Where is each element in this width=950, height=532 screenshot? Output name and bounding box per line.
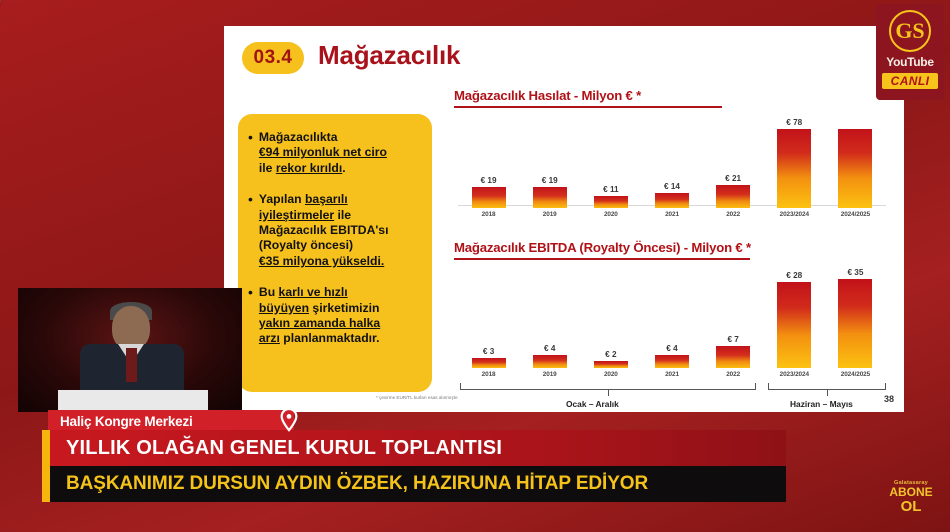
bar-category-label: 2019	[543, 371, 557, 378]
bullet-line: arzı planlanmaktadır.	[259, 331, 380, 345]
bar-category-label: 2021	[665, 211, 679, 218]
bar-category-label: 2021	[665, 371, 679, 378]
bar-value-label: € 4	[666, 344, 677, 353]
bar-category-label: 2023/2024	[780, 371, 809, 378]
bar-value-label: € 11	[603, 185, 618, 194]
title-underline	[454, 106, 722, 108]
chart-title: Mağazacılık EBITDA (Royalty Öncesi) - Mi…	[454, 240, 890, 255]
chart-hasilat: Mağazacılık Hasılat - Milyon € * € 19 20…	[454, 88, 890, 236]
group-bracket-tick	[827, 390, 828, 396]
bar-column: € 4 2019	[519, 268, 580, 378]
bar-column: € 19 2018	[458, 118, 519, 218]
bar-category-label: 2024/2025	[841, 371, 870, 378]
bar	[472, 187, 506, 208]
live-label: CANLI	[882, 73, 939, 89]
bar-category-label: 2019	[543, 211, 557, 218]
bar-value-label: € 19	[542, 176, 558, 185]
bar-category-label: 2022	[726, 371, 740, 378]
bar-value-label: € 19	[481, 176, 497, 185]
group-label-ocak-aralik: Ocak – Aralık	[566, 399, 619, 409]
bullet-dot: •	[248, 285, 253, 347]
youtube-live-badge: GS YouTube CANLI	[876, 4, 944, 100]
subscribe-line2: OL	[901, 499, 922, 515]
chart-plot-area: € 19 2018 € 19 2019 € 11 2020 € 14	[454, 118, 890, 218]
bar-value-label: € 35	[847, 268, 863, 277]
bar	[533, 187, 567, 208]
bullet-line: Bu karlı ve hızlı	[259, 285, 348, 299]
bar-category-label: 2018	[482, 371, 496, 378]
title-underline	[454, 258, 750, 260]
bar	[777, 282, 811, 368]
bullet-line: Mağazacılıkta	[259, 130, 338, 144]
slide-footnote: * çevirme EUR/TL kurları esas alınmıştır…	[376, 395, 459, 400]
bar-category-label: 2020	[604, 211, 618, 218]
subscribe-line1: ABONE	[889, 486, 932, 499]
bullet-text: Yapılan başarılı iyileştirmeler ile Mağa…	[259, 192, 389, 269]
bullet-text: Mağazacılıkta €94 milyonluk net ciro ile…	[259, 130, 387, 176]
bar-column: € 19 2019	[519, 118, 580, 218]
bullet-line: ile ile rekor kırıldı.rekor kırıldı.	[259, 161, 346, 175]
bar-column: € 78 2023/2024	[764, 118, 825, 218]
bar-category-label: 2023/2024	[780, 211, 809, 218]
bullet-line: yakın zamanda halka	[259, 316, 380, 330]
headline-bar: YILLIK OLAĞAN GENEL KURUL TOPLANTISI	[48, 430, 786, 466]
bar-value-label: € 4	[544, 344, 555, 353]
venue-name: Haliç Kongre Merkezi	[60, 414, 193, 429]
bullet-item: • Mağazacılıkta €94 milyonluk net ciro i…	[248, 130, 420, 176]
bullet-dot: •	[248, 130, 253, 176]
bullet-item: • Bu karlı ve hızlı büyüyen şirketimizin…	[248, 285, 420, 347]
presentation-slide: 03.4 Mağazacılık • Mağazacılıkta €94 mil…	[224, 26, 904, 412]
bullet-line: Yapılan başarılı	[259, 192, 348, 206]
headline-text: YILLIK OLAĞAN GENEL KURUL TOPLANTISI	[66, 437, 502, 460]
bar-column: € 7 2022	[703, 268, 764, 378]
podium	[58, 390, 208, 412]
bullet-line: Mağazacılık EBITDA'sı	[259, 223, 389, 237]
speaker-video-inset	[18, 288, 242, 412]
bar	[655, 193, 689, 209]
bar	[838, 129, 872, 208]
subscribe-badge[interactable]: Galatasaray ABONE OL	[878, 468, 944, 526]
bullet-line: büyüyen şirketimizin	[259, 301, 380, 315]
bar-column: € 2 2020	[580, 268, 641, 378]
bar	[594, 196, 628, 208]
bullet-item: • Yapılan başarılı iyileştirmeler ile Ma…	[248, 192, 420, 269]
bar-column: € 35 2024/2025	[825, 268, 886, 378]
subline-text: BAŞKANIMIZ DURSUN AYDIN ÖZBEK, HAZIRUNA …	[66, 473, 648, 495]
subline-bar: BAŞKANIMIZ DURSUN AYDIN ÖZBEK, HAZIRUNA …	[48, 466, 786, 502]
bar	[533, 355, 567, 368]
bar-column: € 28 2023/2024	[764, 268, 825, 378]
slide-section-number: 03.4	[242, 42, 304, 74]
group-bracket-haziran-mayis	[768, 383, 886, 390]
bar	[838, 279, 872, 368]
bar-value-label: € 2	[605, 350, 616, 359]
bullet-line: €35 milyona yükseldi.	[259, 254, 384, 268]
bar-category-label: 2022	[726, 211, 740, 218]
galatasaray-logo-icon: GS	[889, 10, 931, 52]
bar-value-label: € 28	[786, 271, 802, 280]
youtube-label: YouTube	[886, 55, 933, 69]
bullet-line: iyileştirmeler ile	[259, 208, 351, 222]
bar-value-label: € 7	[727, 335, 738, 344]
group-bracket-ocak-aralik	[460, 383, 756, 390]
bar-column: € 4 2021	[641, 268, 702, 378]
bar-column: € 21 2022	[703, 118, 764, 218]
bar-column: € 11 2020	[580, 118, 641, 218]
bar	[777, 129, 811, 208]
gs-monogram: GS	[895, 18, 924, 44]
speaker-tie	[126, 348, 137, 382]
bar-value-label: € 14	[664, 182, 680, 191]
bar	[716, 185, 750, 208]
bar-column: € 94 2024/2025	[825, 118, 886, 218]
chart-plot-area: € 3 2018 € 4 2019 € 2 2020 € 4	[454, 268, 890, 378]
bar	[716, 346, 750, 368]
bar	[594, 361, 628, 368]
chart-title: Mağazacılık Hasılat - Milyon € *	[454, 88, 890, 103]
group-label-haziran-mayis: Haziran – Mayıs	[790, 399, 853, 409]
bar-value-label: € 78	[786, 118, 802, 127]
headline-accent-bar	[42, 430, 50, 502]
bar-category-label: 2018	[482, 211, 496, 218]
broadcast-screen: 03.4 Mağazacılık • Mağazacılıkta €94 mil…	[0, 0, 950, 532]
group-bracket-tick	[608, 390, 609, 396]
bullet-card: • Mağazacılıkta €94 milyonluk net ciro i…	[238, 114, 432, 392]
bar-value-label: € 3	[483, 347, 494, 356]
bullet-dot: •	[248, 192, 253, 269]
venue-bar: Haliç Kongre Merkezi	[48, 410, 294, 432]
bullet-text: Bu karlı ve hızlı büyüyen şirketimizin y…	[259, 285, 380, 347]
bar	[472, 358, 506, 368]
bar-column: € 14 2021	[641, 118, 702, 218]
chart-ebitda: Mağazacılık EBITDA (Royalty Öncesi) - Mi…	[454, 240, 890, 412]
bullet-line: €94 milyonluk net ciro	[259, 145, 387, 159]
bullet-line: (Royalty öncesi)	[259, 238, 353, 252]
slide-page-number: 38	[884, 394, 894, 404]
bar	[655, 355, 689, 368]
bar-category-label: 2020	[604, 371, 618, 378]
map-pin-icon	[278, 408, 300, 434]
bar-value-label: € 21	[725, 174, 741, 183]
bar-category-label: 2024/2025	[841, 211, 870, 218]
bar-column: € 3 2018	[458, 268, 519, 378]
slide-title: Mağazacılık	[318, 40, 460, 71]
